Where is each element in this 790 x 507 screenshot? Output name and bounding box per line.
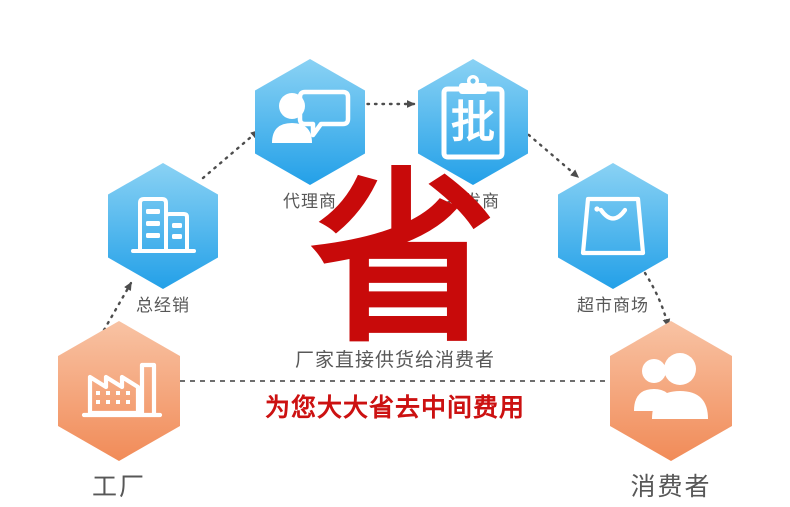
svg-text:批: 批	[451, 97, 495, 148]
node-factory-label: 工厂	[92, 467, 146, 503]
supply-chain-diagram: 工厂 总经销	[0, 0, 790, 507]
saving-character: 省	[310, 176, 485, 346]
direct-supply-note: 厂家直接供货给消费者	[0, 345, 790, 372]
clipboard-pi-icon: 批	[444, 75, 502, 157]
node-consumer-label: 消费者	[630, 467, 711, 503]
save-cost-note: 为您大大省去中间费用	[0, 388, 790, 424]
general-distributor-hexagon	[108, 163, 218, 289]
node-supermarket-label: 超市商场	[577, 291, 649, 316]
node-supermarket[interactable]: 超市商场	[558, 163, 668, 289]
node-general-distributor-label: 总经销	[136, 291, 190, 316]
supermarket-hexagon	[558, 163, 668, 289]
node-general-distributor[interactable]: 总经销	[108, 163, 218, 289]
